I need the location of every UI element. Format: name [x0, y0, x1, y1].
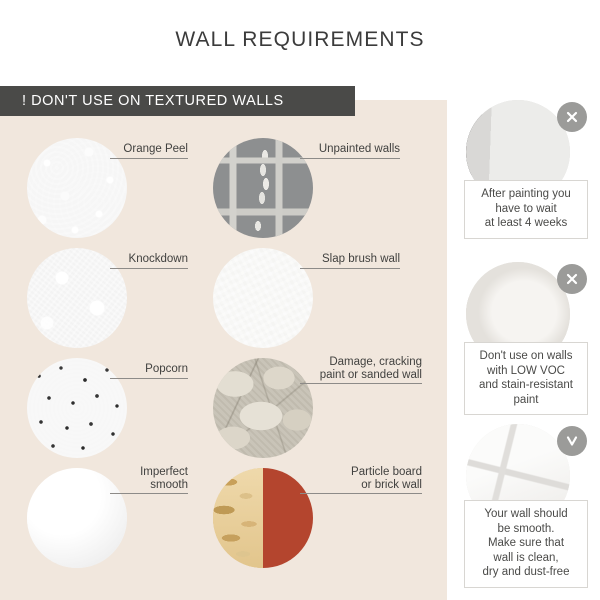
texture-label-unpainted-walls: Unpainted walls	[300, 143, 400, 159]
particle-board-half	[213, 468, 263, 568]
texture-label-slap-brush-wall: Slap brush wall	[300, 253, 400, 269]
texture-grid: Orange Peel Unpainted walls Knockdown Sl…	[0, 100, 447, 600]
texture-label-popcorn: Popcorn	[110, 363, 188, 379]
unpainted-wall-swatch	[213, 138, 313, 238]
texture-label-orange-peel: Orange Peel	[110, 143, 188, 159]
texture-label-damaged-wall: Damage, cracking paint or sanded wall	[300, 356, 422, 384]
cross-icon	[557, 264, 587, 294]
slap-brush-texture-swatch	[213, 248, 313, 348]
tip-card-text-wait-4-weeks: After painting you have to wait at least…	[464, 180, 588, 239]
tip-card-text-smooth-clean-wall: Your wall should be smooth. Make sure th…	[464, 500, 588, 588]
damaged-wall-swatch	[213, 358, 313, 458]
check-icon	[557, 426, 587, 456]
particle-board-brick-swatch	[213, 468, 313, 568]
page-title: WALL REQUIREMENTS	[0, 28, 600, 52]
tip-card-text-low-voc-paint: Don't use on walls with LOW VOC and stai…	[464, 342, 588, 415]
cross-icon	[557, 102, 587, 132]
texture-label-imperfect-smooth: Imperfect smooth	[110, 466, 188, 494]
texture-label-knockdown: Knockdown	[110, 253, 188, 269]
infographic-page: WALL REQUIREMENTS ! DON'T USE ON TEXTURE…	[0, 0, 600, 600]
texture-label-particle-board-brick: Particle board or brick wall	[300, 466, 422, 494]
